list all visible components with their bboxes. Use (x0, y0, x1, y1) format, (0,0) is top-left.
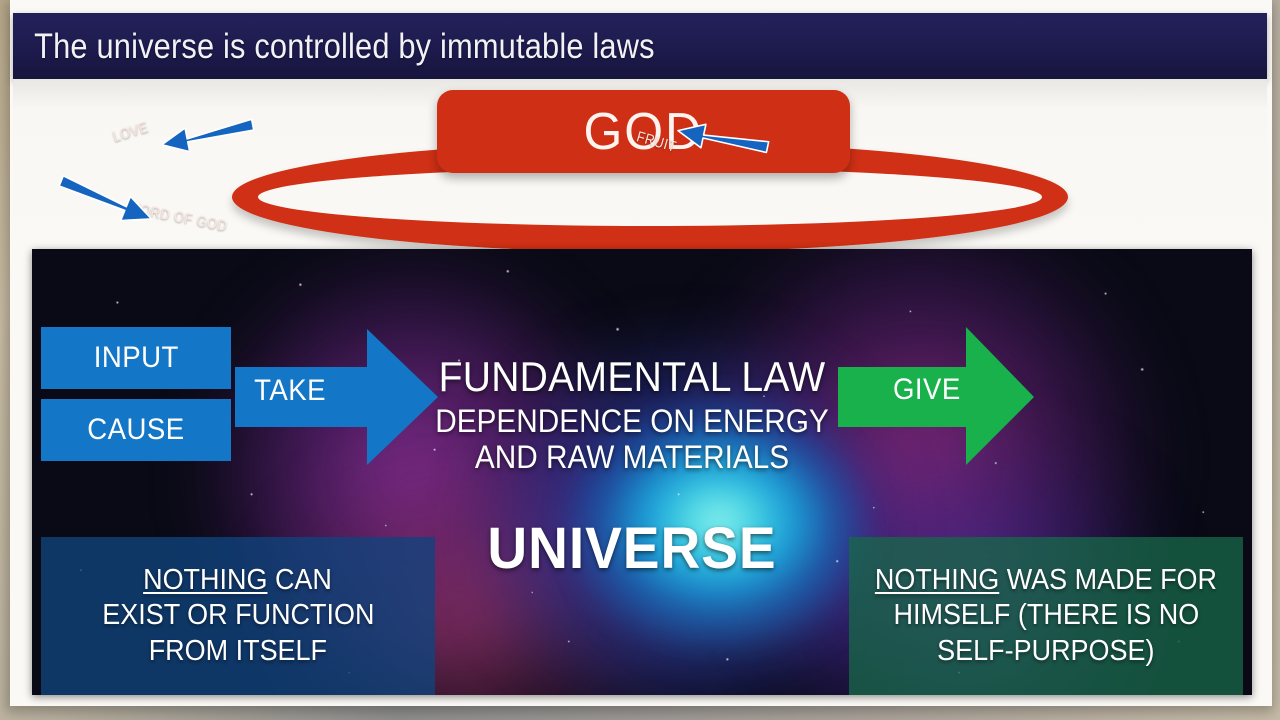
take-label: TAKE (254, 376, 326, 406)
space-background-panel: INPUT CAUSE TAKE GIVE FUNDAMENTAL LAW DE… (32, 249, 1252, 695)
left-statement-line-3: FROM ITSELF (149, 634, 327, 669)
dependence-line-2: AND RAW MATERIALS (427, 439, 836, 475)
center-text-stack: FUNDAMENTAL LAW DEPENDENCE ON ENERGY AND… (412, 355, 852, 578)
fruit-arrow-icon (673, 123, 771, 157)
dependence-subheading: DEPENDENCE ON ENERGY AND RAW MATERIALS (427, 403, 836, 476)
right-statement-line-1: NOTHING WAS MADE FOR (875, 563, 1217, 598)
fundamental-law-heading: FUNDAMENTAL LAW (427, 355, 836, 399)
title-banner: The universe is controlled by immutable … (13, 13, 1267, 79)
give-label: GIVE (893, 375, 961, 405)
left-nothing-word: NOTHING (144, 564, 268, 596)
left-statement-line-2: EXIST OR FUNCTION (102, 598, 374, 633)
love-arrow-icon (157, 119, 257, 153)
right-statement-line-2: HIMSELF (THERE IS NO (893, 598, 1199, 633)
slide-outer-frame: The universe is controlled by immutable … (0, 0, 1280, 720)
input-box: INPUT (41, 327, 231, 389)
right-statement-line-3: SELF-PURPOSE) (937, 634, 1154, 669)
right-nothing-word: NOTHING (875, 564, 999, 596)
left-statement-line-1: NOTHING CAN (144, 563, 333, 598)
cause-label: CAUSE (87, 415, 184, 445)
page-title: The universe is controlled by immutable … (13, 29, 655, 64)
cause-box: CAUSE (41, 399, 231, 461)
cycle-label-love: LOVE (111, 120, 150, 145)
input-cause-group: INPUT CAUSE (41, 327, 231, 461)
left-statement-box: NOTHING CAN EXIST OR FUNCTION FROM ITSEL… (41, 537, 435, 695)
left-line1-rest: CAN (268, 564, 332, 596)
right-statement-box: NOTHING WAS MADE FOR HIMSELF (THERE IS N… (849, 537, 1243, 695)
god-cycle-diagram: GOD LOVE WORD OF GOD FRUIT (13, 79, 1267, 251)
input-label: INPUT (93, 343, 178, 373)
right-line1-rest: WAS MADE FOR (999, 564, 1217, 596)
universe-label: UNIVERSE (423, 520, 841, 578)
dependence-line-1: DEPENDENCE ON ENERGY (427, 403, 836, 439)
word-of-god-arrow-icon (53, 182, 161, 220)
